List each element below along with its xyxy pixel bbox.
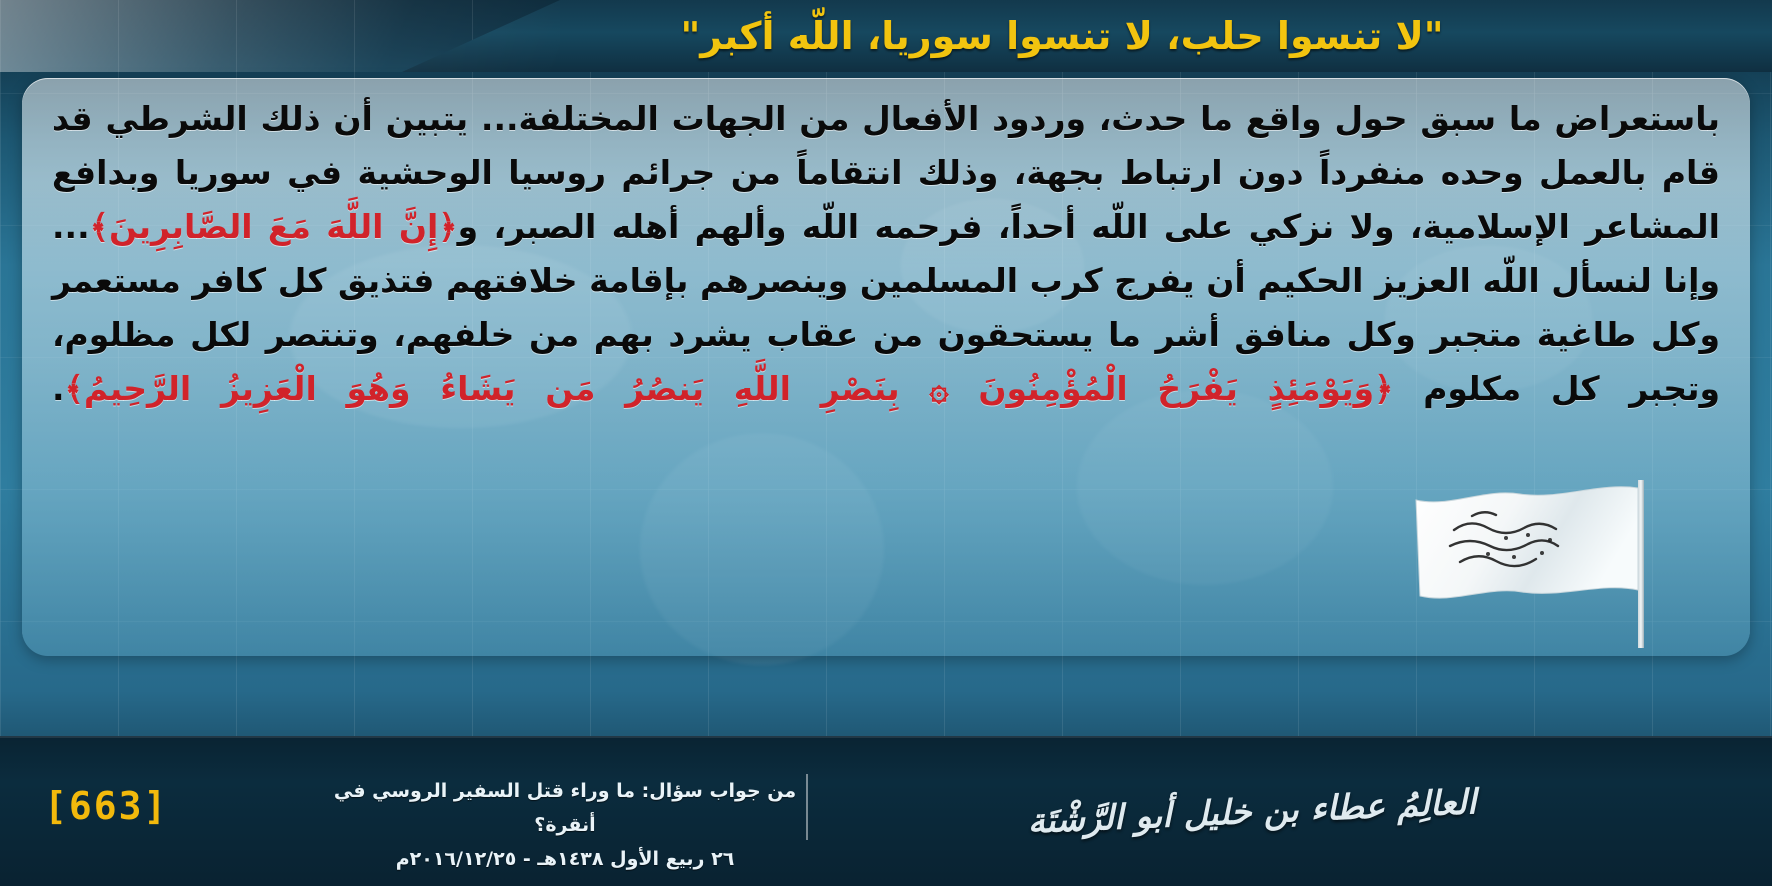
quran-verse-1: ﴿إِنَّ اللَّهَ مَعَ الصَّابِرِينَ﴾ <box>90 207 458 246</box>
footer-metadata: من جواب سؤال: ما وراء قتل السفير الروسي … <box>330 774 800 876</box>
footer-date-line: ٢٦ ربيع الأول ١٤٣٨هـ - ٢٠١٦/١٢/٢٥م <box>330 842 800 876</box>
header-banner: "لا تنسوا حلب، لا تنسوا سوريا، اللّه أكب… <box>0 0 1772 72</box>
content-panel: باستعراض ما سبق حول واقع ما حدث، وردود ا… <box>22 78 1750 656</box>
publisher-logo: [663] <box>44 784 168 828</box>
quran-verse-2: ﴿وَيَوْمَئِذٍ يَفْرَحُ الْمُؤْمِنُونَ ۞ … <box>65 369 1394 408</box>
footer-divider <box>806 774 808 840</box>
body-paragraph: باستعراض ما سبق حول واقع ما حدث، وردود ا… <box>52 92 1720 416</box>
header-title: "لا تنسوا حلب، لا تنسوا سوريا، اللّه أكب… <box>352 0 1772 72</box>
author-signature: العالِمُ عطاء بن خليل أبو الرَّشْتَة <box>932 762 1572 862</box>
paragraph-terminator: . <box>52 369 65 408</box>
footer-source-line: من جواب سؤال: ما وراء قتل السفير الروسي … <box>330 774 800 842</box>
author-signature-text: العالِمُ عطاء بن خليل أبو الرَّشْتَة <box>930 748 1574 876</box>
content-panel-inner: باستعراض ما سبق حول واقع ما حدث، وردود ا… <box>22 78 1750 656</box>
footer-bar: [663] من جواب سؤال: ما وراء قتل السفير ا… <box>0 736 1772 886</box>
poster-root: "لا تنسوا حلب، لا تنسوا سوريا، اللّه أكب… <box>0 0 1772 886</box>
